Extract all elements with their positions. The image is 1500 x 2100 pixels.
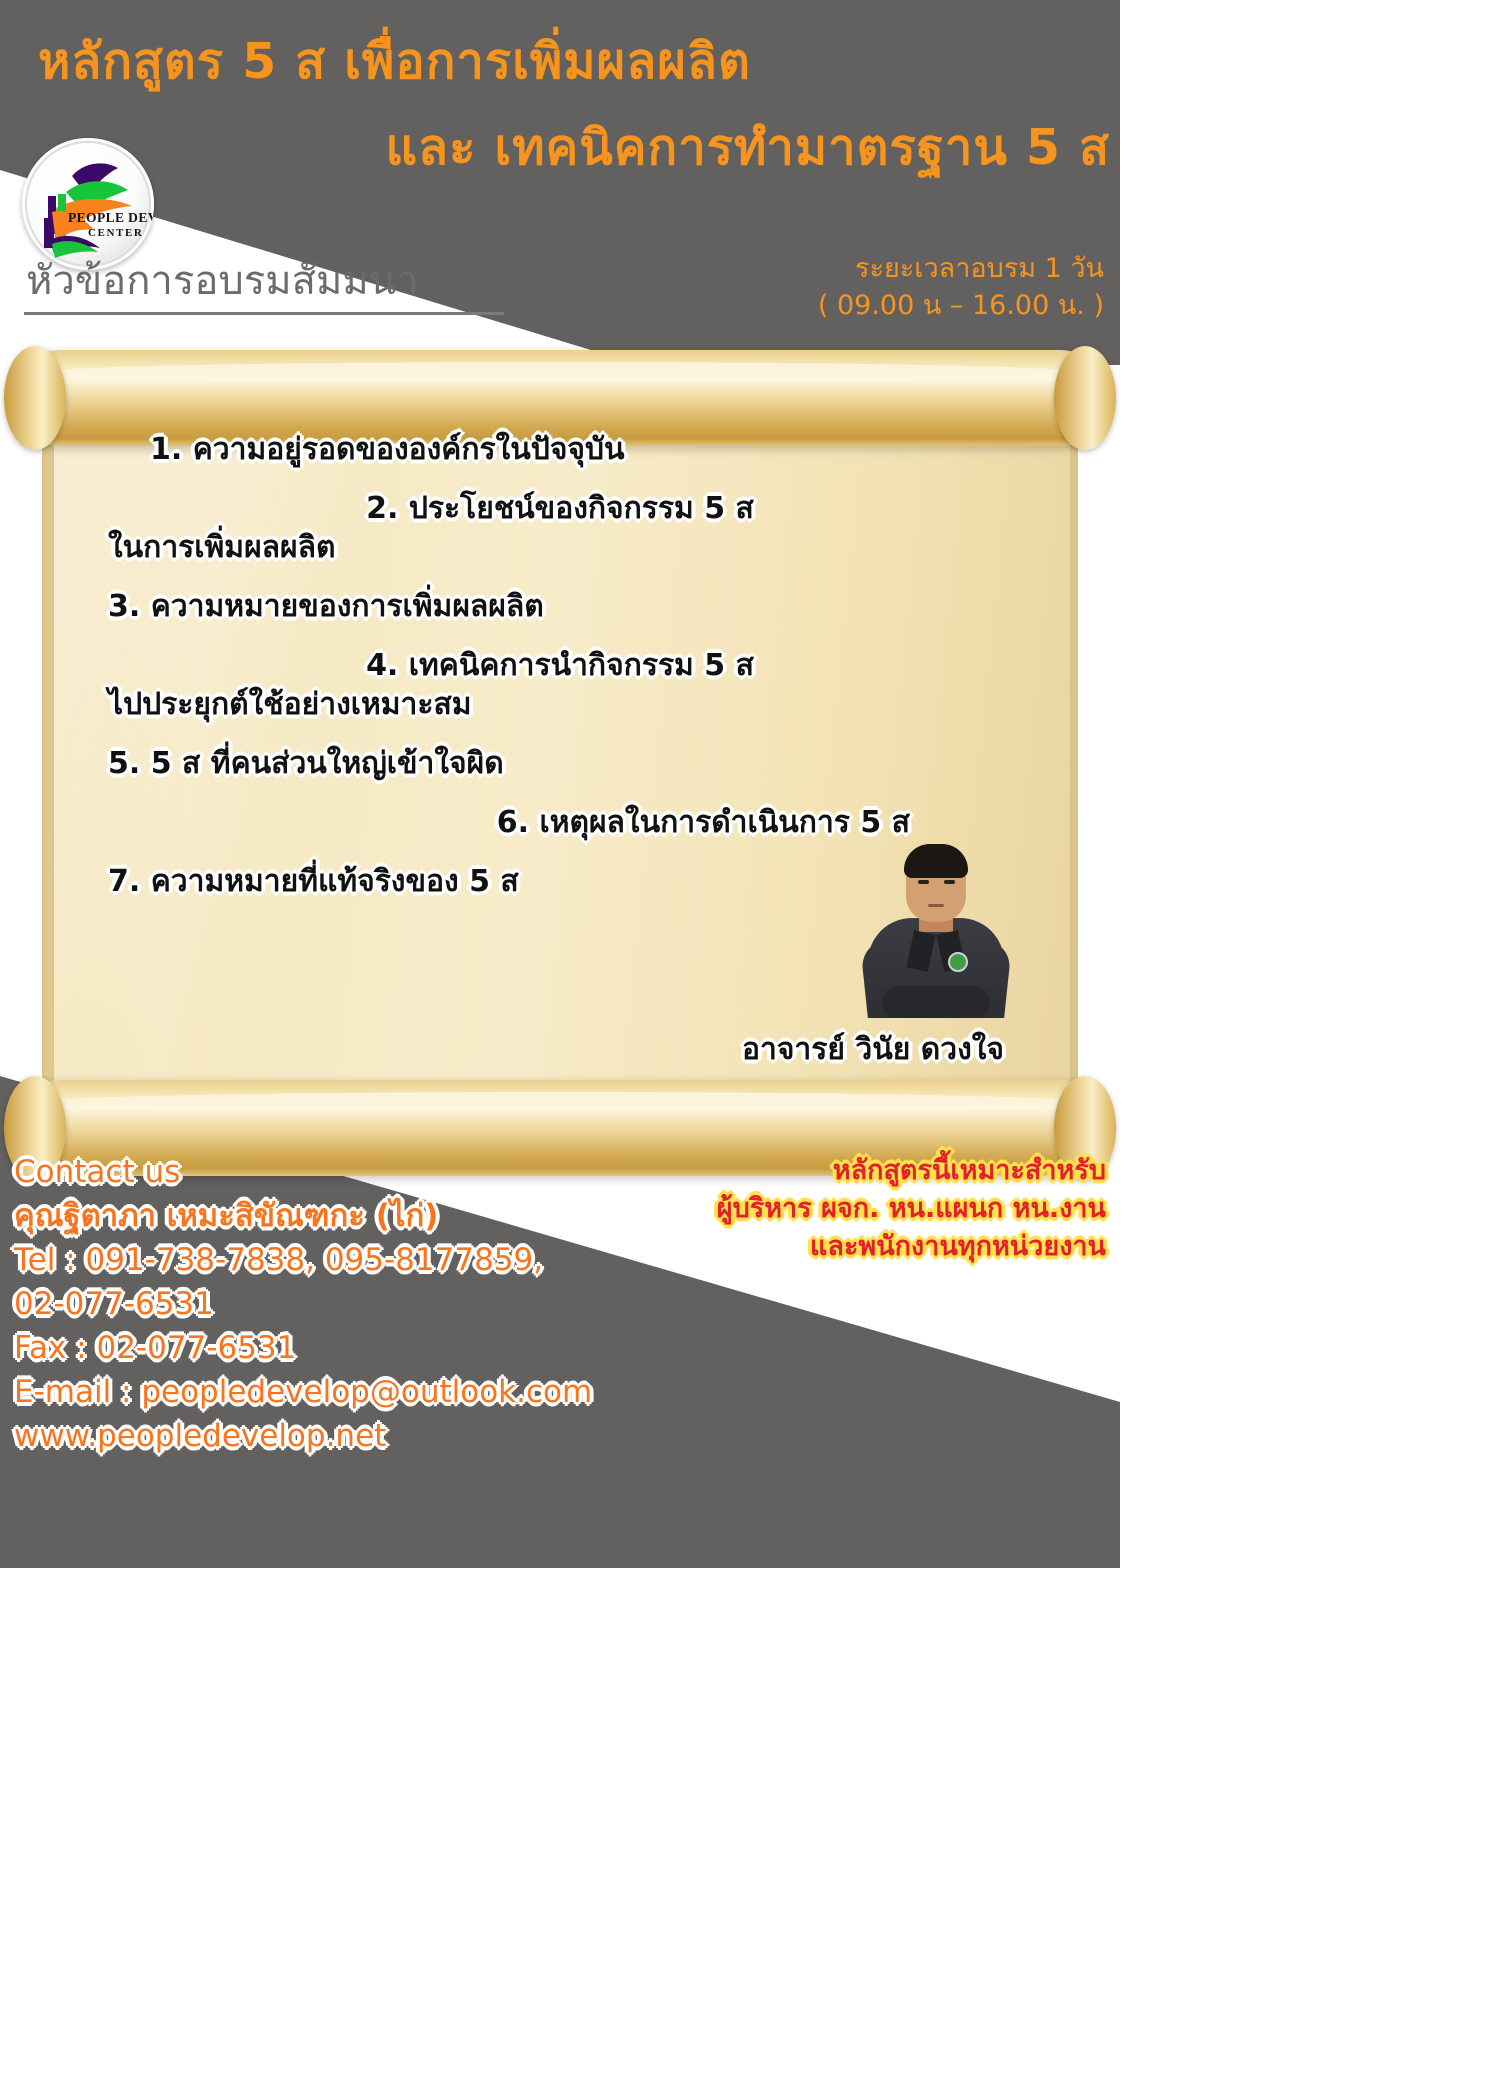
topic-item-3: 3. ความหมายของการเพิ่มผลผลิต — [60, 587, 1060, 626]
topic-4-line-1: 4. เทคนิคการนำกิจกรรม 5 ส — [60, 646, 1060, 685]
audience-line-2: ผู้บริหาร ผจก. หน.แผนก หน.งาน — [717, 1190, 1106, 1228]
audience-line-1: หลักสูตรนี้เหมาะสำหรับ — [717, 1152, 1106, 1190]
contact-heading: Contact us — [14, 1150, 592, 1194]
contact-block: Contact us คุณฐิตาภา เหมะสิขัณฑกะ (ไก่) … — [14, 1150, 592, 1458]
course-title-line1: หลักสูตร 5 ส เพื่อการเพิ่มผลผลิต — [38, 22, 751, 100]
contact-person: คุณฐิตาภา เหมะสิขัณฑกะ (ไก่) — [14, 1194, 592, 1238]
topic-item-5: 5. 5 ส ที่คนส่วนใหญ่เข้าใจผิด — [60, 744, 1060, 783]
course-duration: ระยะเวลาอบรม 1 วัน ( 09.00 น – 16.00 น. … — [818, 250, 1104, 325]
contact-fax: Fax : 02-077-6531 — [14, 1326, 592, 1370]
section-heading-underline — [24, 312, 504, 315]
poster-root: PEOPLE DEVELOP CENTER หลักสูตร 5 ส เพื่อ… — [0, 0, 1120, 1568]
scroll-top-cap-left — [4, 346, 66, 450]
contact-email[interactable]: E-mail : peopledevelop@outlook.com — [14, 1370, 592, 1414]
instructor-photo — [862, 836, 1010, 1018]
instructor-badge-icon — [948, 952, 968, 972]
section-heading: หัวข้อการอบรมสัมมนา — [26, 248, 419, 312]
instructor-eye-left — [918, 880, 929, 884]
duration-days: ระยะเวลาอบรม 1 วัน — [818, 250, 1104, 287]
scroll-top-cap-right — [1054, 346, 1116, 450]
topic-1-line-1: 1. ความอยู่รอดขององค์กรในปัจจุบัน — [60, 430, 1060, 469]
duration-hours: ( 09.00 น – 16.00 น. ) — [818, 287, 1104, 324]
contact-tel-line1[interactable]: Tel : 091-738-7838, 095-8177859, — [14, 1238, 592, 1282]
course-title-line2: และ เทคนิคการทำมาตรฐาน 5 ส — [385, 108, 1110, 186]
audience-line-3: และพนักงานทุกหน่วยงาน — [717, 1228, 1106, 1266]
topic-item-2: 2. ประโยชน์ของกิจกรรม 5 ส ในการเพิ่มผลผล… — [60, 489, 1060, 567]
instructor-crossed-arms — [882, 986, 990, 1018]
target-audience-block: หลักสูตรนี้เหมาะสำหรับ ผู้บริหาร ผจก. หน… — [717, 1152, 1106, 1265]
topic-4-line-2: ไปประยุกต์ใช้อย่างเหมาะสม — [60, 685, 1060, 724]
instructor-mouth — [928, 904, 944, 907]
topic-2-line-2: ในการเพิ่มผลผลิต — [60, 528, 1060, 567]
topic-2-line-1: 2. ประโยชน์ของกิจกรรม 5 ส — [60, 489, 1060, 528]
logo-name-line2: CENTER — [88, 227, 143, 239]
instructor-name: อาจารย์ วินัย ดวงใจ — [742, 1026, 1004, 1073]
instructor-eye-right — [944, 880, 955, 884]
logo-name-line1: PEOPLE DEVELOP — [68, 210, 154, 226]
contact-tel-line2[interactable]: 02-077-6531 — [14, 1282, 592, 1326]
topic-item-1: 1. ความอยู่รอดขององค์กรในปัจจุบัน — [60, 430, 1060, 469]
topic-item-4: 4. เทคนิคการนำกิจกรรม 5 ส ไปประยุกต์ใช้อ… — [60, 646, 1060, 724]
topic-3-line-1: 3. ความหมายของการเพิ่มผลผลิต — [60, 587, 1060, 626]
contact-website[interactable]: www.peopledevelop.net — [14, 1414, 592, 1458]
instructor-hair — [904, 844, 968, 878]
topic-5-line-1: 5. 5 ส ที่คนส่วนใหญ่เข้าใจผิด — [60, 744, 1060, 783]
